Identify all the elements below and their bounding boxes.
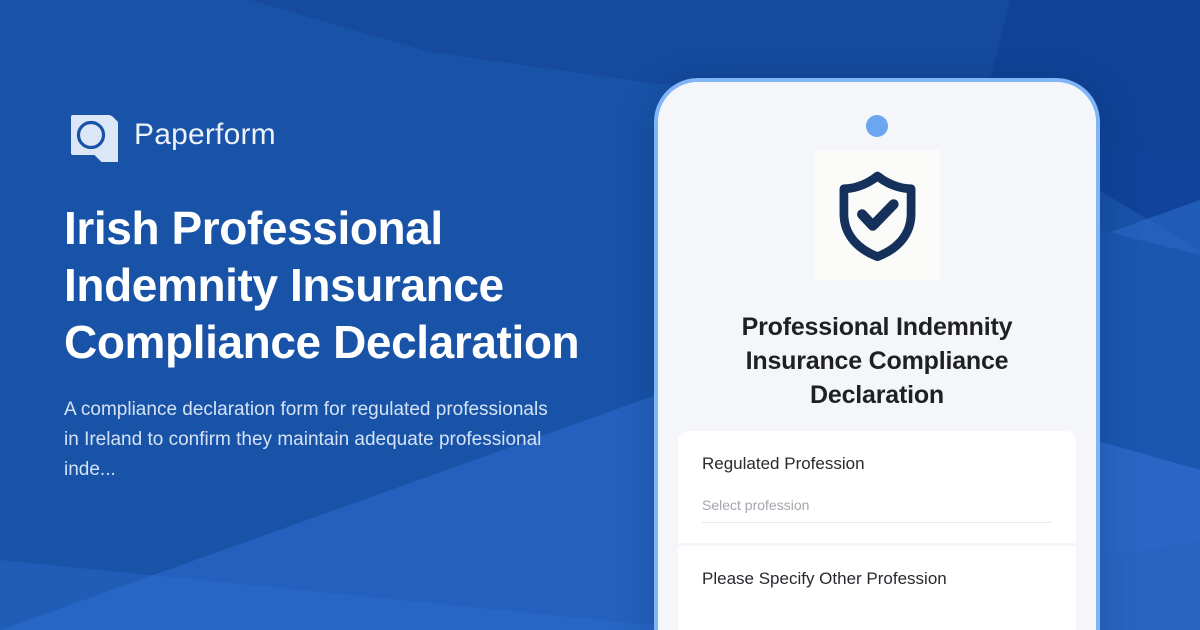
form-title: Professional Indemnity Insurance Complia… [684,310,1070,412]
hero-content: Paperform Irish Professional Indemnity I… [64,108,624,485]
profession-select[interactable]: Select profession [702,497,1052,523]
phone-mockup: Professional Indemnity Insurance Complia… [654,78,1100,630]
field-label: Regulated Profession [702,453,1052,475]
form-field-other-profession: Please Specify Other Profession [678,546,1076,630]
other-profession-input[interactable] [702,590,1052,626]
brand-name: Paperform [134,118,276,152]
field-label: Please Specify Other Profession [702,568,1052,590]
form-logo [815,150,940,280]
page-description: A compliance declaration form for regula… [64,395,564,485]
background-facet-right-mid [1095,230,1200,470]
page-title: Irish Professional Indemnity Insurance C… [64,200,584,371]
form-field-regulated-profession: Regulated Profession Select profession [678,431,1076,543]
brand-lockup: Paperform [64,108,624,162]
paperform-star-logo-icon [64,108,118,162]
form-fields: Regulated Profession Select profession P… [678,431,1076,630]
shield-check-icon [834,169,920,261]
camera-dot-icon [866,115,888,137]
phone-screen: Professional Indemnity Insurance Complia… [658,82,1096,630]
